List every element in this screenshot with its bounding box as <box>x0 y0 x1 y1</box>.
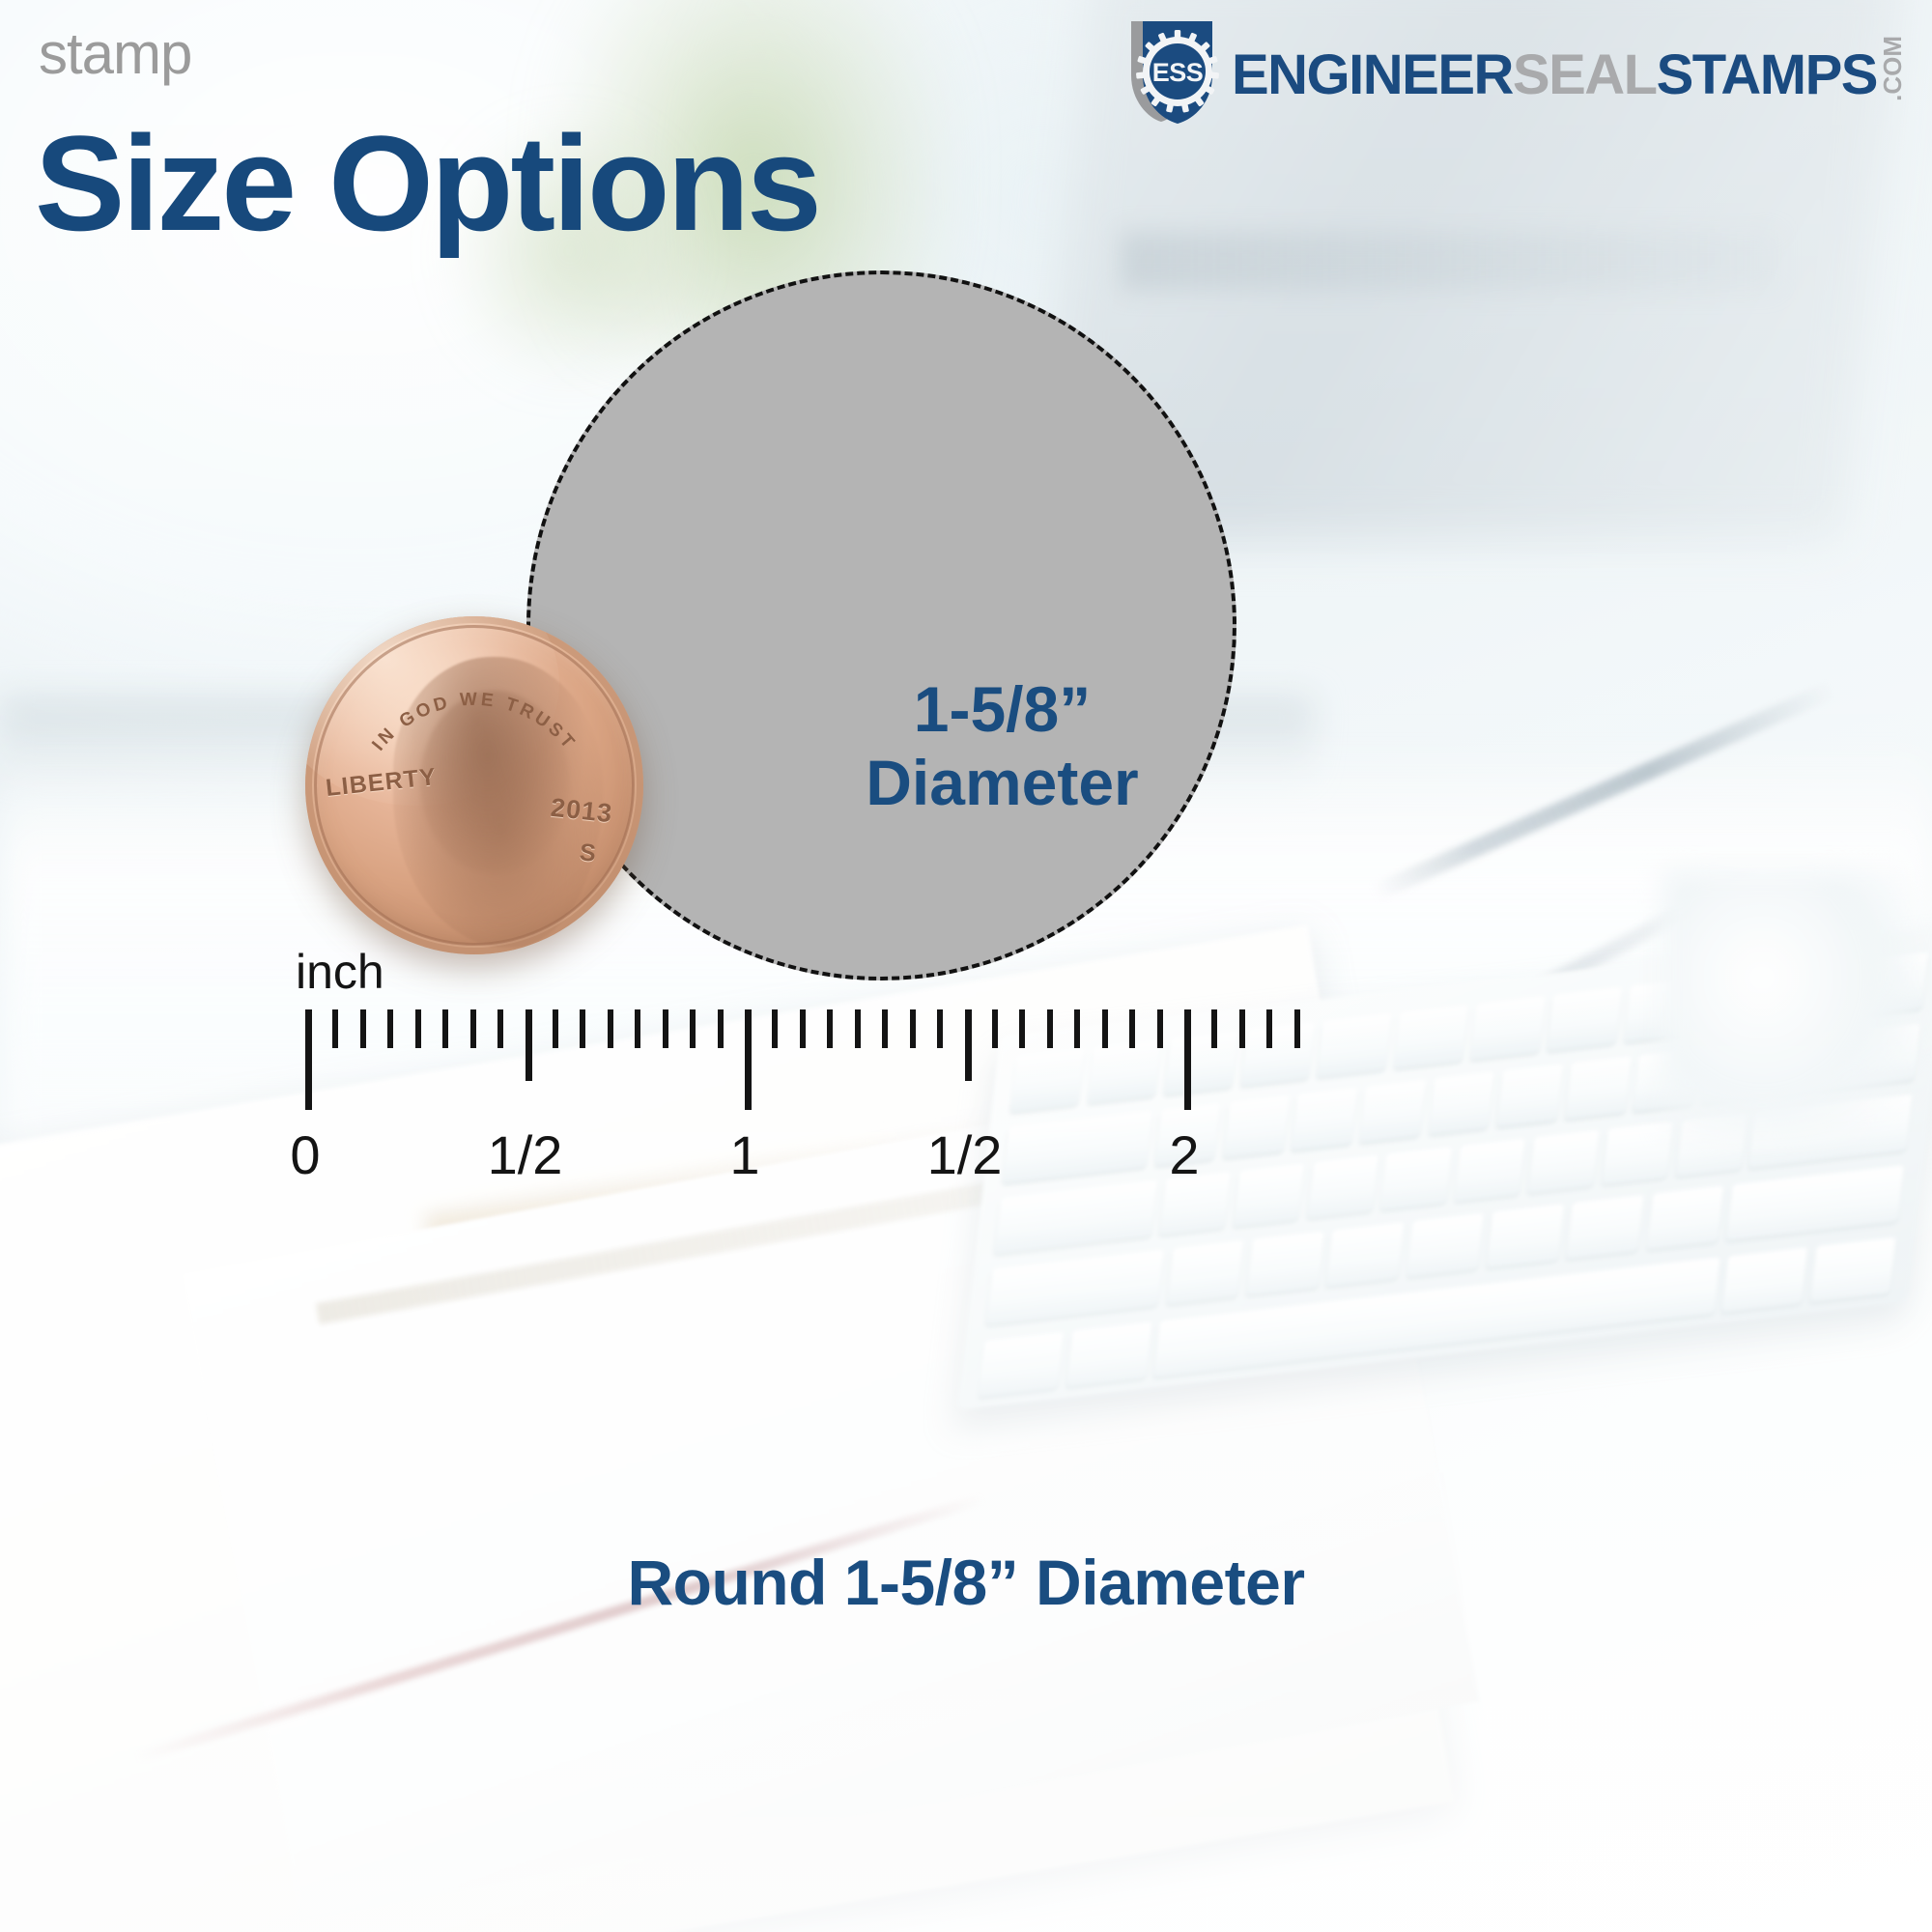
ruler-tick-mid <box>526 1009 532 1081</box>
ruler-tick-major <box>1184 1009 1191 1110</box>
size-caption: Round 1-5/8” Diameter <box>0 1546 1932 1619</box>
ruler-tick-minor <box>635 1009 640 1048</box>
ruler-tick-minor <box>580 1009 585 1048</box>
penny-rim <box>314 625 635 946</box>
svg-text:ESS: ESS <box>1152 58 1204 87</box>
size-preview-circle: 1-5/8”Diameter <box>526 270 1236 980</box>
ruler-tick-minor <box>1157 1009 1163 1048</box>
ruler-tick-minor <box>690 1009 696 1048</box>
ruler-tick-major <box>305 1009 312 1110</box>
ruler-tick-minor <box>332 1009 338 1048</box>
ruler-tick-minor <box>1239 1009 1245 1048</box>
ruler-tick-minor <box>1211 1009 1217 1048</box>
ruler-tick-minor <box>855 1009 861 1048</box>
ruler-tick-minor <box>663 1009 668 1048</box>
ruler-label: 1/2 <box>927 1123 1003 1186</box>
ruler-tick-minor <box>827 1009 833 1048</box>
ess-shield-gear-icon: ESS <box>1123 15 1228 124</box>
ruler-tick-minor <box>1294 1009 1300 1048</box>
ruler: inch 01/211/22 <box>296 1000 1513 1222</box>
ruler-tick-minor <box>415 1009 421 1048</box>
brand-word-engineer: ENGINEER <box>1232 47 1513 103</box>
ruler-tick-minor <box>1047 1009 1053 1048</box>
ruler-tick-minor <box>1102 1009 1108 1048</box>
ruler-tick-minor <box>992 1009 998 1048</box>
ruler-tick-minor <box>608 1009 613 1048</box>
ruler-label: 1/2 <box>488 1123 563 1186</box>
ruler-tick-minor <box>882 1009 888 1048</box>
brand-wordmark: ENGINEERSEALSTAMPS.COM <box>1232 36 1905 103</box>
ruler-label: 1 <box>729 1123 759 1186</box>
brand-logo[interactable]: ESS ENGINEERSEALSTAMPS.COM <box>1123 15 1905 124</box>
size-preview-label: 1-5/8”Diameter <box>866 673 1138 820</box>
ruler-tick-minor <box>1019 1009 1025 1048</box>
ruler-tick-minor <box>387 1009 393 1048</box>
ruler-tick-minor <box>1074 1009 1080 1048</box>
ruler-tick-minor <box>718 1009 724 1048</box>
brand-word-seal: SEAL <box>1513 47 1657 103</box>
ruler-tick-minor <box>910 1009 916 1048</box>
ruler-tick-minor <box>553 1009 558 1048</box>
ruler-tick-minor <box>1266 1009 1272 1048</box>
ruler-tick-minor <box>800 1009 806 1048</box>
ruler-tick-minor <box>470 1009 476 1048</box>
ruler-tick-minor <box>1129 1009 1135 1048</box>
brand-tld: .COM <box>1880 36 1905 101</box>
kicker-text: stamp <box>39 25 191 83</box>
penny-coin: IN GOD WE TRUST LIBERTY 2013 S <box>305 616 643 954</box>
ruler-tick-mid <box>965 1009 972 1081</box>
ruler-label: 2 <box>1169 1123 1199 1186</box>
ruler-tick-minor <box>772 1009 778 1048</box>
ruler-tick-major <box>745 1009 752 1110</box>
ruler-label: 0 <box>290 1123 320 1186</box>
ruler-unit-label: inch <box>296 944 384 1000</box>
brand-word-stamps: STAMPS <box>1657 47 1877 103</box>
page-title: Size Options <box>35 116 819 251</box>
ruler-tick-minor <box>497 1009 503 1048</box>
ruler-tick-minor <box>937 1009 943 1048</box>
ruler-tick-minor <box>442 1009 448 1048</box>
ruler-tick-minor <box>360 1009 366 1048</box>
